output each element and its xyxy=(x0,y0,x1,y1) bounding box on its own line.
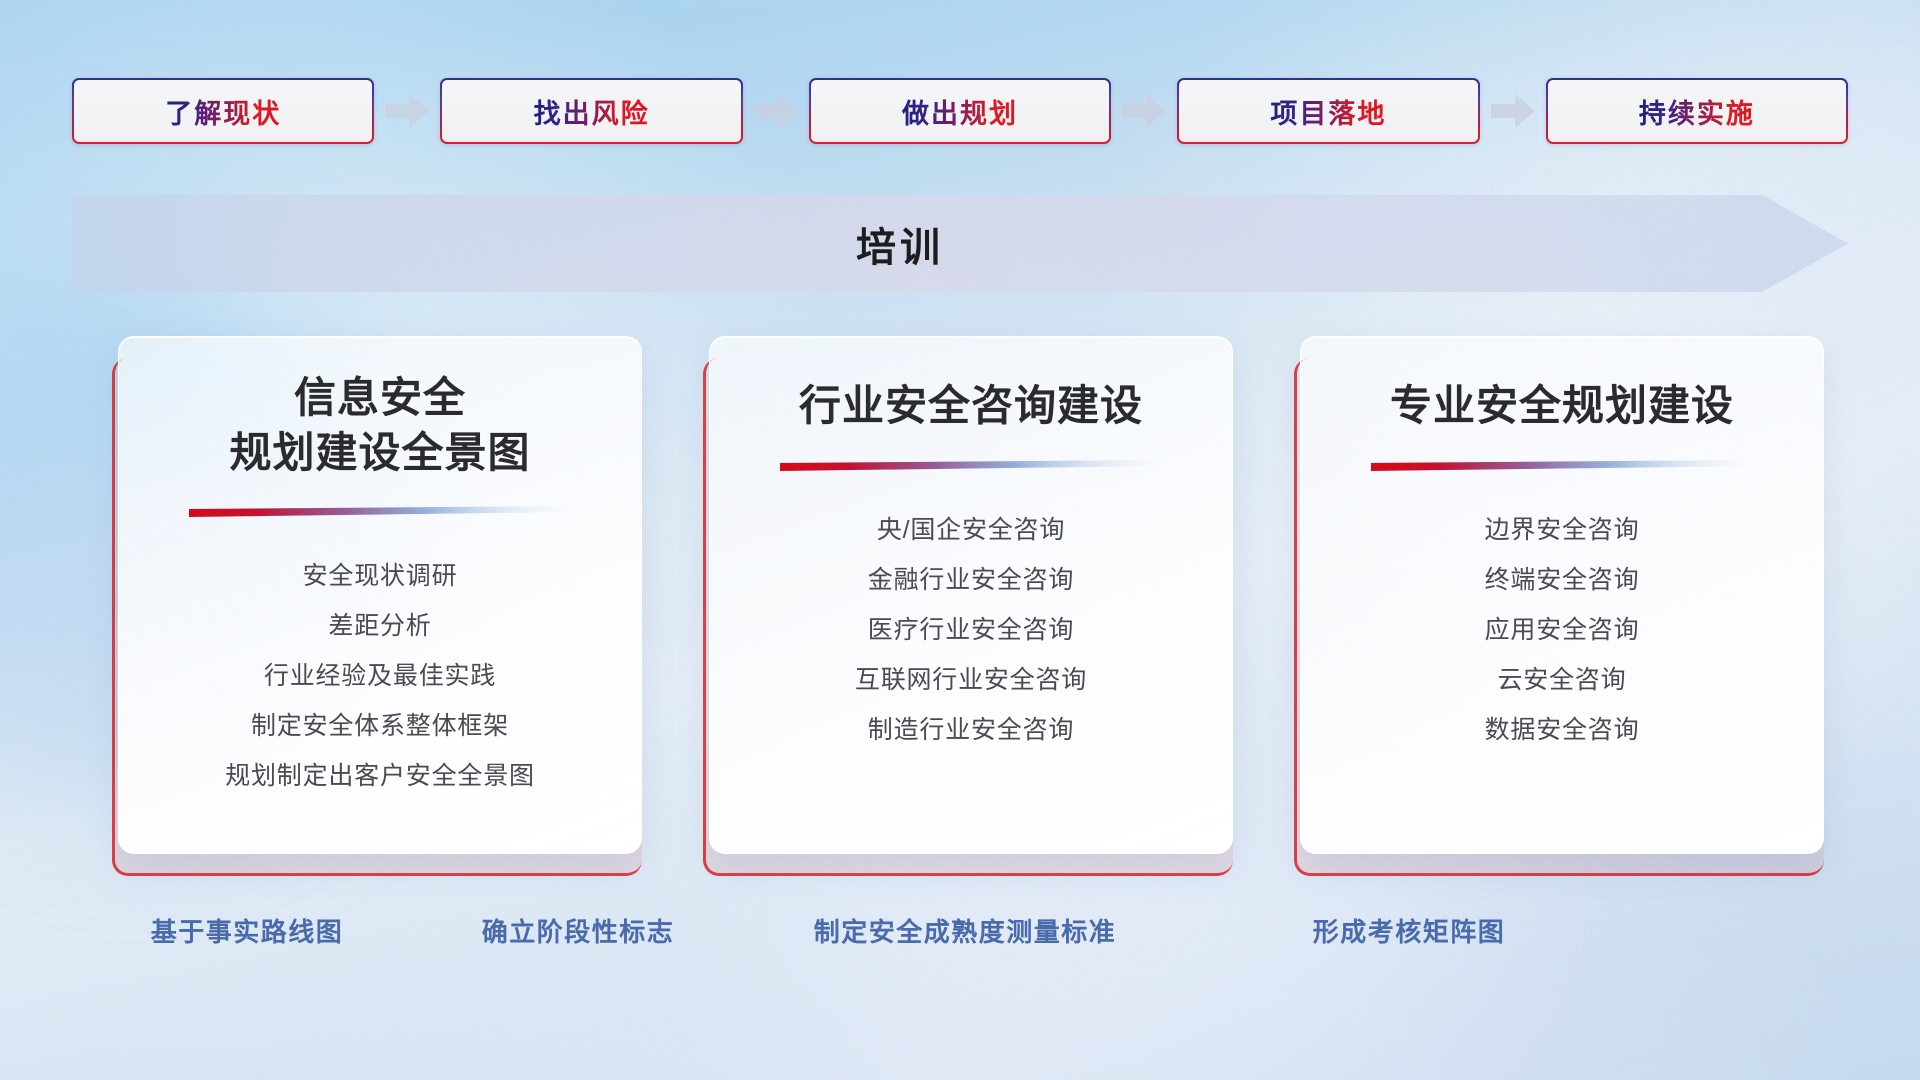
card-title: 行业安全咨询建设 xyxy=(710,379,1232,434)
card-list: 边界安全咨询终端安全咨询应用安全咨询云安全咨询数据安全咨询 xyxy=(1301,505,1823,755)
card-list-item: 规划制定出客户安全全景图 xyxy=(225,751,535,801)
process-step-4[interactable]: 项目落地 xyxy=(1177,78,1479,144)
card-1[interactable]: 信息安全规划建设全景图安全现状调研差距分析行业经验及最佳实践制定安全体系整体框架… xyxy=(112,336,642,876)
process-step-label: 项目落地 xyxy=(1270,92,1386,131)
card-surface: 行业安全咨询建设央/国企安全咨询金融行业安全咨询医疗行业安全咨询互联网行业安全咨… xyxy=(709,336,1233,854)
caption-4: 形成考核矩阵图 xyxy=(1313,912,1506,949)
arrow-right-icon xyxy=(1111,78,1177,144)
card-surface: 专业安全规划建设边界安全咨询终端安全咨询应用安全咨询云安全咨询数据安全咨询 xyxy=(1300,336,1824,854)
caption-2: 确立阶段性标志 xyxy=(482,912,675,949)
card-list-item: 制定安全体系整体框架 xyxy=(251,701,509,751)
card-row: 信息安全规划建设全景图安全现状调研差距分析行业经验及最佳实践制定安全体系整体框架… xyxy=(112,336,1824,876)
caption-3: 制定安全成熟度测量标准 xyxy=(814,912,1117,949)
card-title: 专业安全规划建设 xyxy=(1301,379,1823,434)
card-list-item: 应用安全咨询 xyxy=(1485,605,1640,655)
process-step-label: 做出规划 xyxy=(902,92,1018,131)
card-title: 信息安全规划建设全景图 xyxy=(119,371,641,480)
arrow-right-icon xyxy=(374,78,440,144)
process-step-label: 了解现状 xyxy=(165,92,281,131)
process-step-surface: 项目落地 xyxy=(1179,80,1477,142)
card-list-item: 云安全咨询 xyxy=(1497,655,1626,705)
process-step-surface: 持续实施 xyxy=(1548,80,1846,142)
process-step-surface: 了解现状 xyxy=(74,80,372,142)
card-list: 央/国企安全咨询金融行业安全咨询医疗行业安全咨询互联网行业安全咨询制造行业安全咨… xyxy=(710,505,1232,755)
card-list-item: 数据安全咨询 xyxy=(1485,705,1640,755)
card-title-line: 规划建设全景图 xyxy=(137,426,623,481)
card-list-item: 边界安全咨询 xyxy=(1485,505,1640,555)
caption-row: 基于事实路线图确立阶段性标志制定安全成熟度测量标准形成考核矩阵图 xyxy=(0,912,1920,962)
card-list-item: 医疗行业安全咨询 xyxy=(868,605,1074,655)
card-2[interactable]: 行业安全咨询建设央/国企安全咨询金融行业安全咨询医疗行业安全咨询互联网行业安全咨… xyxy=(703,336,1233,876)
card-surface: 信息安全规划建设全景图安全现状调研差距分析行业经验及最佳实践制定安全体系整体框架… xyxy=(118,336,642,854)
process-step-3[interactable]: 做出规划 xyxy=(809,78,1111,144)
card-list-item: 央/国企安全咨询 xyxy=(877,505,1065,555)
process-step-surface: 找出风险 xyxy=(442,80,740,142)
arrow-right-icon xyxy=(743,78,809,144)
card-list-item: 差距分析 xyxy=(328,601,431,651)
card-list-item: 安全现状调研 xyxy=(303,551,458,601)
card-list: 安全现状调研差距分析行业经验及最佳实践制定安全体系整体框架规划制定出客户安全全景… xyxy=(119,551,641,801)
process-step-1[interactable]: 了解现状 xyxy=(72,78,374,144)
process-step-row: 了解现状找出风险做出规划项目落地持续实施 xyxy=(72,78,1848,144)
card-divider xyxy=(780,460,1162,471)
training-banner: 培训 xyxy=(72,195,1848,292)
card-title-line: 专业安全规划建设 xyxy=(1319,379,1805,434)
card-list-item: 行业经验及最佳实践 xyxy=(264,651,496,701)
card-divider xyxy=(1371,460,1753,471)
card-list-item: 制造行业安全咨询 xyxy=(868,705,1074,755)
process-step-2[interactable]: 找出风险 xyxy=(440,78,742,144)
banner-label: 培训 xyxy=(72,195,1848,292)
card-title-line: 信息安全 xyxy=(137,371,623,426)
process-step-surface: 做出规划 xyxy=(811,80,1109,142)
arrow-right-icon xyxy=(1480,78,1546,144)
process-step-5[interactable]: 持续实施 xyxy=(1546,78,1848,144)
caption-1: 基于事实路线图 xyxy=(151,912,344,949)
process-step-label: 持续实施 xyxy=(1639,92,1755,131)
card-3[interactable]: 专业安全规划建设边界安全咨询终端安全咨询应用安全咨询云安全咨询数据安全咨询 xyxy=(1294,336,1824,876)
card-list-item: 终端安全咨询 xyxy=(1485,555,1640,605)
card-list-item: 金融行业安全咨询 xyxy=(868,555,1074,605)
card-title-line: 行业安全咨询建设 xyxy=(728,379,1214,434)
card-list-item: 互联网行业安全咨询 xyxy=(855,655,1087,705)
card-divider xyxy=(189,506,571,517)
process-step-label: 找出风险 xyxy=(534,92,650,131)
